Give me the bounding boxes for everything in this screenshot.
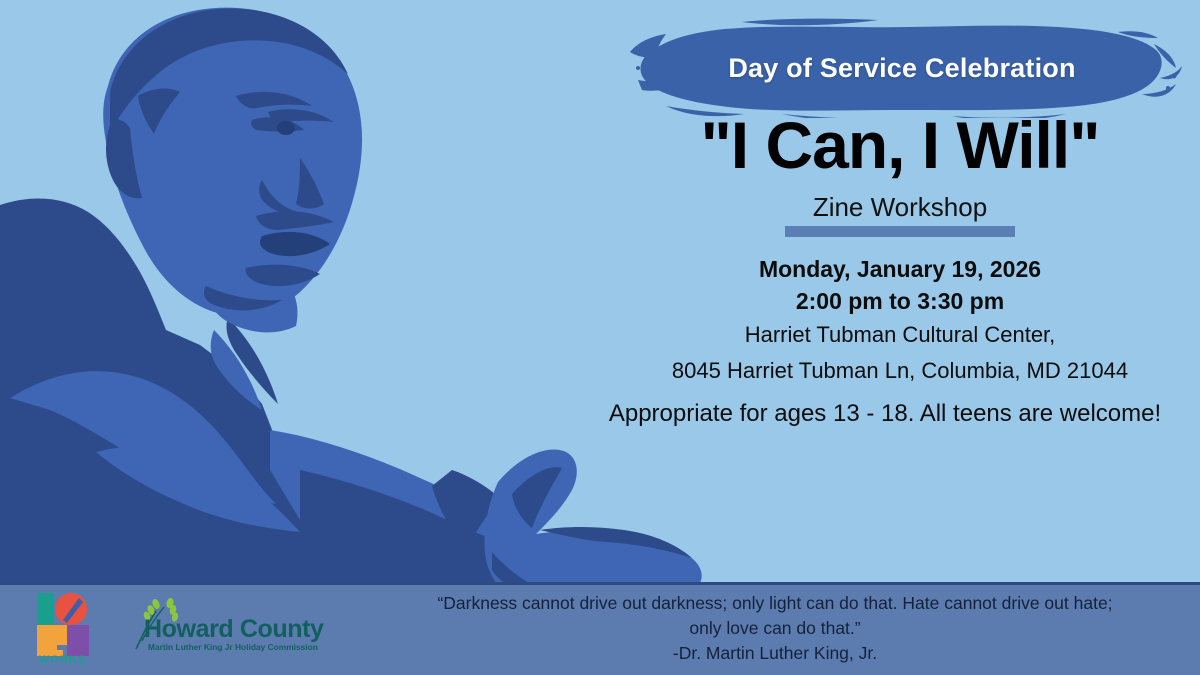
page-title: "I Can, I Will" xyxy=(600,112,1200,178)
event-date: Monday, January 19, 2026 xyxy=(600,256,1200,283)
poster-canvas: Day of Service Celebration "I Can, I Wil… xyxy=(0,0,1200,675)
howard-county-name: Howard County xyxy=(144,615,324,643)
mlk-quote: “Darkness cannot drive out darkness; onl… xyxy=(360,591,1190,666)
howard-county-subtitle: Martin Luther King Jr Holiday Commission xyxy=(148,642,318,652)
banner: Day of Service Celebration xyxy=(622,18,1182,118)
hope-works-logo: WORKS xyxy=(33,590,113,666)
page-subtitle: Zine Workshop xyxy=(600,192,1200,223)
poster-content: Day of Service Celebration "I Can, I Wil… xyxy=(600,0,1200,582)
hope-tagline: WORKS xyxy=(39,654,86,666)
divider xyxy=(785,226,1015,237)
event-venue: Harriet Tubman Cultural Center, xyxy=(600,322,1200,348)
howard-county-logo: Howard County Martin Luther King Jr Holi… xyxy=(126,595,336,657)
banner-label: Day of Service Celebration xyxy=(622,18,1182,118)
event-address: 8045 Harriet Tubman Ln, Columbia, MD 210… xyxy=(600,358,1200,384)
quote-line-1: “Darkness cannot drive out darkness; onl… xyxy=(360,591,1190,616)
footer-bar: WORKS Howard County Martin Luther King J… xyxy=(0,582,1200,675)
event-time: 2:00 pm to 3:30 pm xyxy=(600,288,1200,315)
quote-line-2: only love can do that.” xyxy=(360,616,1190,641)
quote-attribution: -Dr. Martin Luther King, Jr. xyxy=(360,641,1190,666)
event-audience: Appropriate for ages 13 - 18. All teens … xyxy=(570,400,1200,428)
